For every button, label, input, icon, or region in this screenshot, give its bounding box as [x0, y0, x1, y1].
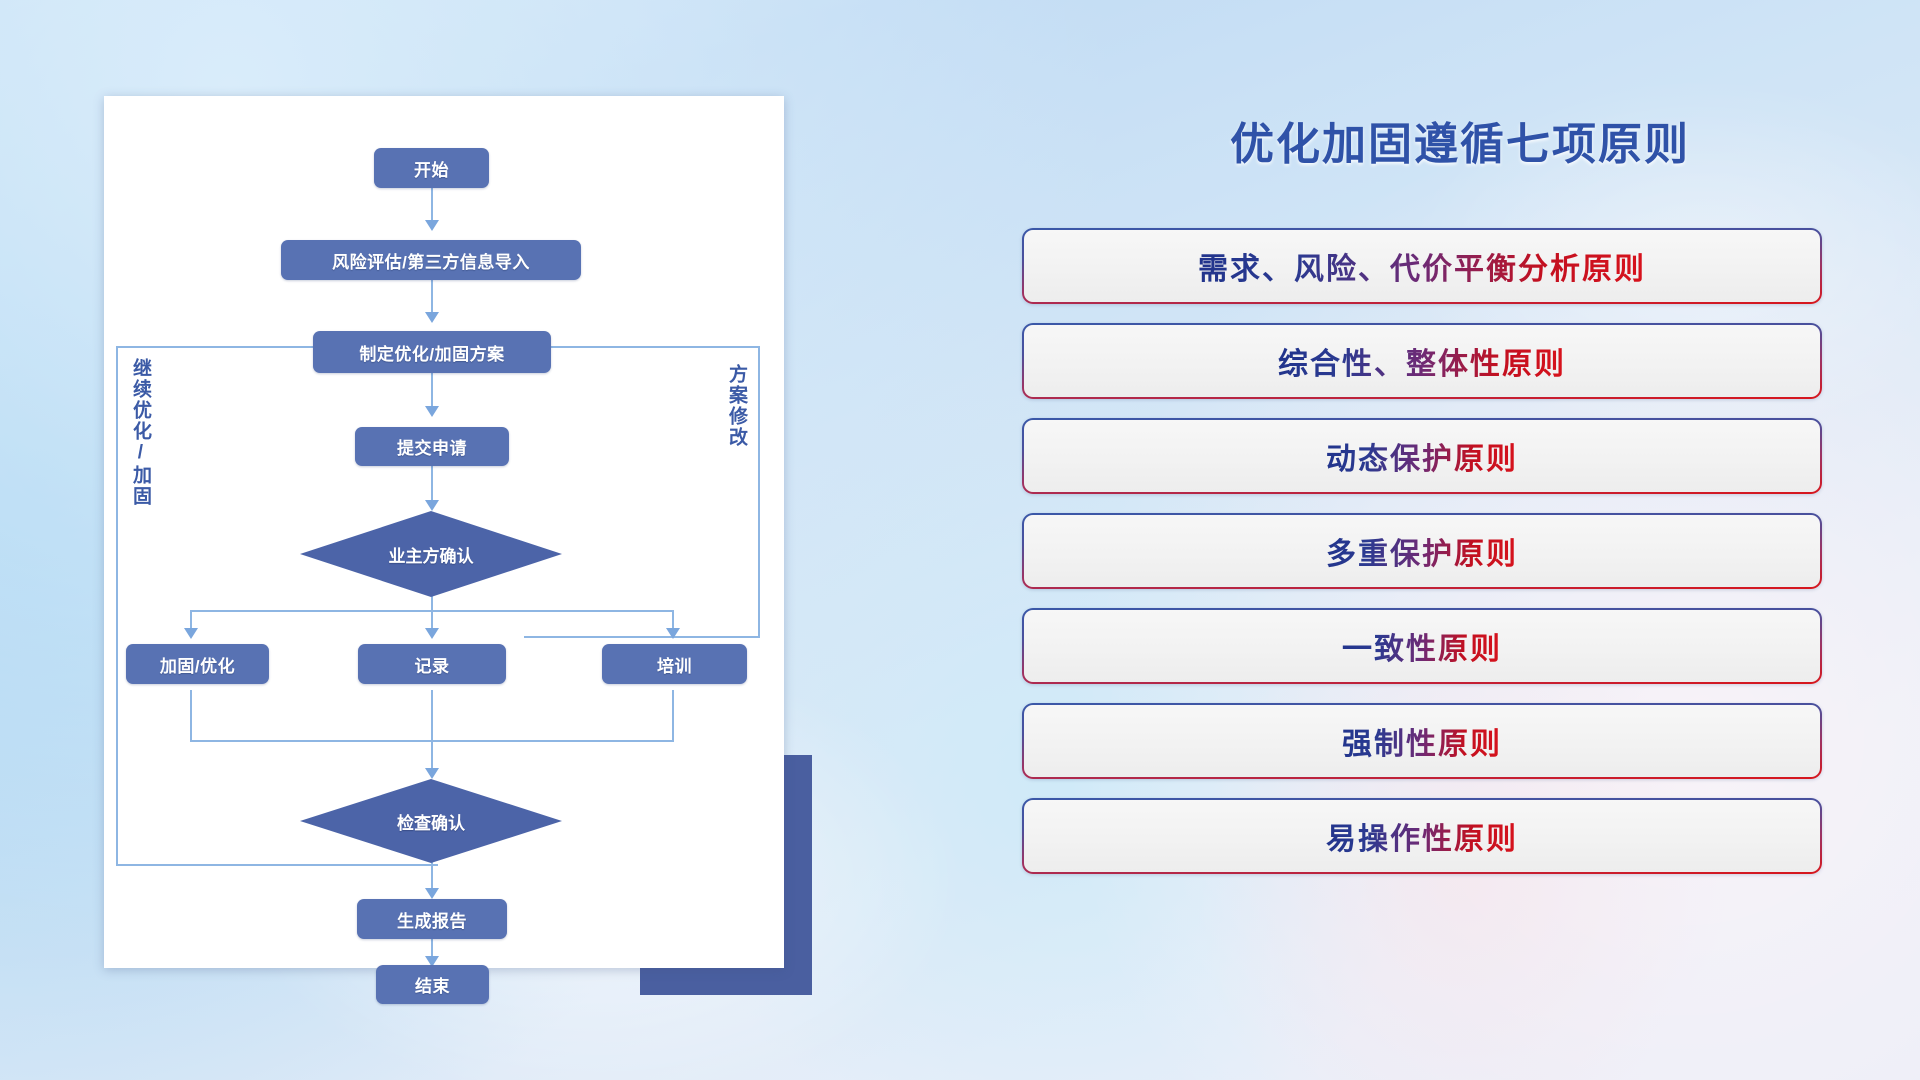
flow-node-report[interactable]: 生成报告	[357, 899, 507, 939]
edge-label-left: 继续优化/加固	[130, 358, 150, 507]
page-title: 优化加固遵循七项原则	[1000, 108, 1920, 172]
principle-label-6: 强制性原则	[1342, 719, 1502, 763]
flow-node-plan[interactable]: 制定优化/加固方案	[313, 331, 551, 373]
loop-rail-right-top	[524, 346, 760, 348]
arrow-fanout-left	[184, 628, 198, 639]
flow-node-end[interactable]: 结束	[376, 965, 489, 1004]
principle-label-4: 多重保护原则	[1326, 529, 1518, 573]
flow-node-check-confirm[interactable]: 检查确认	[300, 779, 562, 863]
principle-card-3[interactable]: 动态保护原则	[1022, 418, 1822, 494]
flow-node-training[interactable]: 培训	[602, 644, 747, 684]
principle-label-2: 综合性、整体性原则	[1278, 339, 1566, 383]
loop-rail-right	[758, 346, 760, 638]
principle-card-2[interactable]: 综合性、整体性原则	[1022, 323, 1822, 399]
flow-node-owner-confirm-label: 业主方确认	[389, 542, 474, 567]
flow-node-submit[interactable]: 提交申请	[355, 427, 509, 466]
principle-card-7[interactable]: 易操作性原则	[1022, 798, 1822, 874]
merge-left-rise	[190, 690, 192, 742]
flow-node-owner-confirm[interactable]: 业主方确认	[300, 511, 562, 597]
arrow-risk-plan	[425, 312, 439, 323]
principle-label-7: 易操作性原则	[1326, 814, 1518, 858]
merge-mid-drop	[431, 690, 433, 774]
loop-rail-left-bottom	[116, 864, 438, 866]
flow-node-reinforce[interactable]: 加固/优化	[126, 644, 269, 684]
flow-node-start[interactable]: 开始	[374, 148, 489, 188]
principle-label-5: 一致性原则	[1342, 624, 1502, 668]
loop-rail-left	[116, 346, 118, 866]
edge-label-right: 方案修改	[726, 364, 746, 448]
arrow-start-risk	[425, 220, 439, 231]
arrow-submit-owner	[425, 500, 439, 511]
arrow-plan-submit	[425, 406, 439, 417]
flowchart-paper: 继续优化/加固 方案修改	[104, 96, 784, 968]
principle-label-3: 动态保护原则	[1326, 434, 1518, 478]
flow-node-risk[interactable]: 风险评估/第三方信息导入	[281, 240, 581, 280]
principle-card-1[interactable]: 需求、风险、代价平衡分析原则	[1022, 228, 1822, 304]
flow-node-check-confirm-label: 检查确认	[397, 809, 465, 834]
arrow-fanout-right	[666, 628, 680, 639]
arrow-merge-check	[425, 768, 439, 779]
arrow-fanout-mid	[425, 628, 439, 639]
principle-card-4[interactable]: 多重保护原则	[1022, 513, 1822, 589]
principle-card-6[interactable]: 强制性原则	[1022, 703, 1822, 779]
principles-panel: 优化加固遵循七项原则 需求、风险、代价平衡分析原则 综合性、整体性原则 动态保护…	[1000, 0, 1920, 1080]
arrow-check-report	[425, 888, 439, 899]
principles-list: 需求、风险、代价平衡分析原则 综合性、整体性原则 动态保护原则 多重保护原则 一…	[1022, 228, 1822, 893]
flowchart-canvas: 继续优化/加固 方案修改	[104, 96, 784, 968]
principle-label-1: 需求、风险、代价平衡分析原则	[1198, 244, 1646, 288]
principle-card-5[interactable]: 一致性原则	[1022, 608, 1822, 684]
flow-node-record[interactable]: 记录	[358, 644, 506, 684]
merge-right-rise	[672, 690, 674, 742]
loop-rail-right-bottom	[524, 636, 760, 638]
